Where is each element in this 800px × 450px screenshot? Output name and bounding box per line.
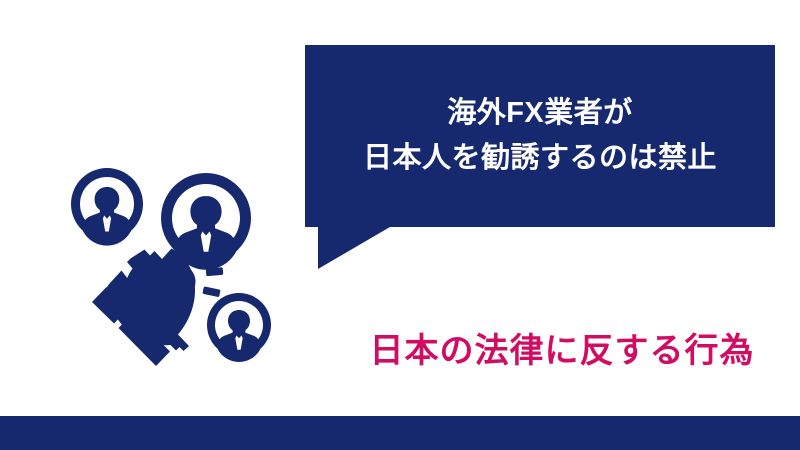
- slide-canvas: 海外FX業者が 日本人を勧誘するのは禁止 日本の法律に反する行為: [0, 0, 800, 450]
- bottom-accent-bar: [0, 416, 800, 450]
- speech-bubble-line-1: 海外FX業者が: [447, 95, 633, 132]
- megaphone-people-illustration: [58, 160, 288, 375]
- speech-bubble-line-2: 日本人を勧誘するのは禁止: [363, 140, 717, 177]
- person-avatar-top-left: [71, 168, 143, 246]
- person-avatar-bottom-right: [207, 293, 271, 362]
- speech-bubble-text: 海外FX業者が 日本人を勧誘するのは禁止: [305, 45, 775, 227]
- sub-headline: 日本の法律に反する行為: [352, 331, 772, 372]
- speech-bubble-tail: [318, 227, 390, 269]
- megaphone-icon: [92, 246, 196, 367]
- speech-bubble: 海外FX業者が 日本人を勧誘するのは禁止: [305, 45, 775, 227]
